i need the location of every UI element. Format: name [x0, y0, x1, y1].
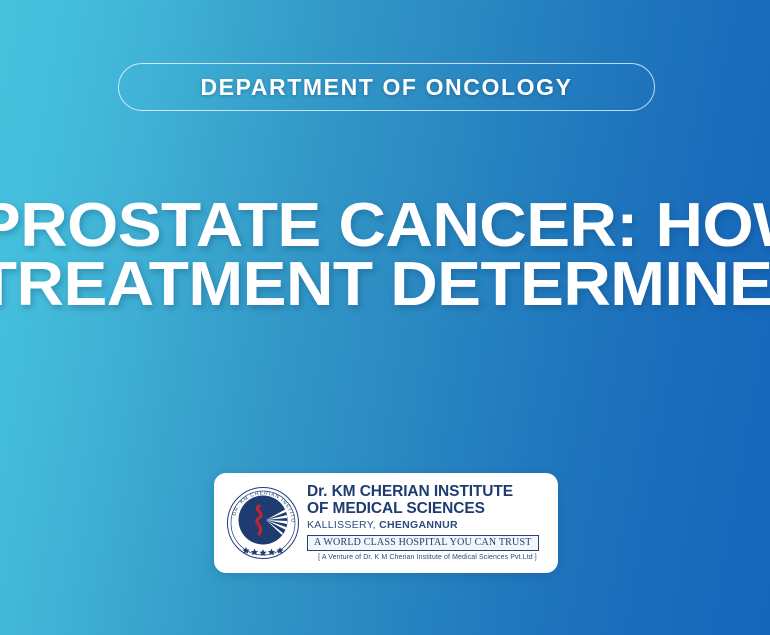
hospital-emblem-icon: DR. KM CHERIAN INSTITUTE OF MEDICAL SCIE…: [226, 486, 300, 560]
hospital-location: KALLISSERY, CHENGANNUR: [307, 518, 548, 532]
headline: PROSTATE CANCER: HOW IS TREATMENT DETERM…: [0, 196, 770, 314]
hospital-name-line-2: OF MEDICAL SCIENCES: [307, 500, 548, 517]
hospital-logo-card: DR. KM CHERIAN INSTITUTE OF MEDICAL SCIE…: [214, 473, 558, 573]
hospital-location-city: CHENGANNUR: [379, 519, 458, 531]
department-badge-label: DEPARTMENT OF ONCOLOGY: [200, 74, 572, 101]
hospital-name-line-1: Dr. KM CHERIAN INSTITUTE: [307, 483, 548, 500]
department-badge-pill: DEPARTMENT OF ONCOLOGY: [118, 63, 655, 111]
hospital-logo-text: Dr. KM CHERIAN INSTITUTE OF MEDICAL SCIE…: [300, 483, 548, 563]
headline-line-2: TREATMENT DETERMINED?: [0, 255, 770, 314]
department-badge: DEPARTMENT OF ONCOLOGY: [118, 63, 655, 111]
hospital-tagline: A WORLD CLASS HOSPITAL YOU CAN TRUST: [307, 535, 539, 551]
headline-line-1: PROSTATE CANCER: HOW IS: [0, 196, 770, 255]
poster-canvas: DEPARTMENT OF ONCOLOGY PROSTATE CANCER: …: [0, 0, 770, 635]
hospital-location-town: KALLISSERY,: [307, 519, 376, 531]
hospital-venture-note: [ A Venture of Dr. K M Cherian Institute…: [307, 553, 548, 563]
